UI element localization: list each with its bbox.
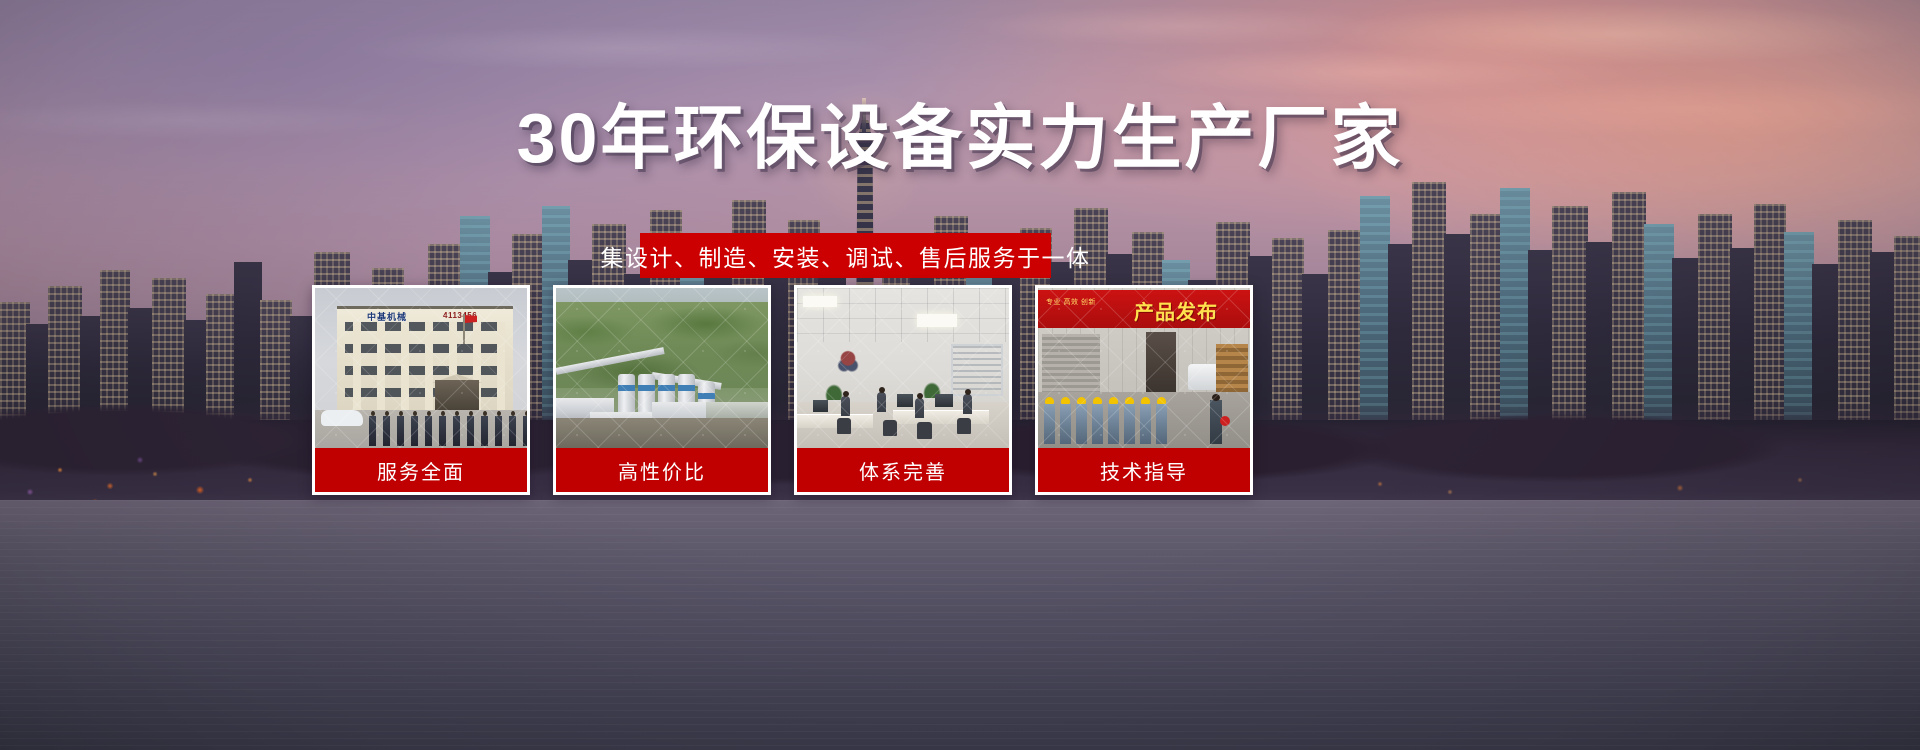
- card-photo-factory-yard: 专业 高效 创新 产品发布: [1038, 288, 1250, 448]
- hero-banner: 30年环保设备实力生产厂家 集设计、制造、安装、调试、售后服务于一体 中基机械 …: [0, 0, 1920, 750]
- feature-card-system[interactable]: 体系完善: [794, 285, 1012, 495]
- subtitle-banner: 集设计、制造、安装、调试、售后服务于一体: [640, 233, 1051, 278]
- card-label-text: 高性价比: [618, 456, 706, 485]
- card-label: 体系完善: [797, 448, 1009, 492]
- card-photo-industrial-plant: [556, 288, 768, 448]
- card-label-text: 技术指导: [1100, 456, 1188, 485]
- card-label: 技术指导: [1038, 448, 1250, 492]
- feature-card-value[interactable]: 高性价比: [553, 285, 771, 495]
- card-photo-office-interior: [797, 288, 1009, 448]
- wall-logo: [835, 350, 861, 372]
- factory-red-banner: 专业 高效 创新 产品发布: [1038, 290, 1250, 328]
- banner-main-text: 产品发布: [1134, 296, 1218, 325]
- card-label-text: 体系完善: [859, 456, 947, 485]
- staff-lineup: [367, 408, 527, 448]
- card-label: 高性价比: [556, 448, 768, 492]
- card-label: 服务全面: [315, 448, 527, 492]
- banner-side-text: 专业 高效 创新: [1046, 298, 1096, 309]
- feature-card-service[interactable]: 中基机械 4113456: [312, 285, 530, 495]
- building-company-sign: 中基机械: [367, 310, 407, 323]
- card-label-text: 服务全面: [377, 456, 465, 485]
- water-reflections: [0, 500, 1920, 750]
- parked-car: [321, 410, 363, 426]
- feature-card-row: 中基机械 4113456: [312, 285, 1562, 495]
- red-object: [1220, 416, 1230, 426]
- page-title: 30年环保设备实力生产厂家: [0, 103, 1920, 173]
- card-photo-office-building: 中基机械 4113456: [315, 288, 527, 448]
- feature-card-technical[interactable]: 专业 高效 创新 产品发布: [1035, 285, 1253, 495]
- subtitle-text: 集设计、制造、安装、调试、售后服务于一体: [601, 239, 1091, 273]
